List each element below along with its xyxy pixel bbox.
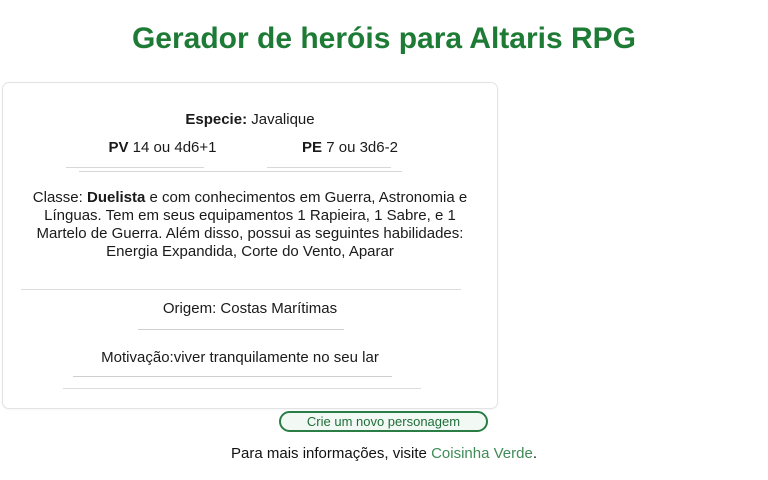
class-name: Duelista xyxy=(87,189,145,206)
character-card-body: Especie: Javalique PV 14 ou 4d6+1 PE 7 o… xyxy=(3,83,497,408)
species-label: Especie: xyxy=(185,111,247,128)
motivation-row: Motivação:viver tranquilamente no seu la… xyxy=(3,349,497,367)
create-new-character-button[interactable]: Crie um novo personagem xyxy=(279,411,488,432)
origin-row: Origem: Costas Marítimas xyxy=(3,300,497,318)
species-value: Javalique xyxy=(251,111,314,128)
origin-divider xyxy=(138,329,344,330)
stat-pv-label: PV xyxy=(108,139,128,156)
class-section-divider xyxy=(21,289,461,290)
footer: Para mais informações, visite Coisinha V… xyxy=(0,445,768,462)
stat-pe-divider xyxy=(267,167,391,168)
stat-pe-text: PE 7 ou 3d6-2 xyxy=(263,139,438,157)
stat-pv-text: PV 14 ou 4d6+1 xyxy=(63,139,263,157)
stat-pv-value: 14 ou 4d6+1 xyxy=(133,139,217,156)
footer-prefix: Para mais informações, visite xyxy=(231,445,431,462)
stat-pv: PV 14 ou 4d6+1 xyxy=(63,139,263,168)
character-card: Especie: Javalique PV 14 ou 4d6+1 PE 7 o… xyxy=(2,82,498,409)
species-row: Especie: Javalique xyxy=(3,111,497,129)
coisinha-verde-link[interactable]: Coisinha Verde xyxy=(431,445,533,462)
stat-pe-label: PE xyxy=(302,139,322,156)
footer-suffix: . xyxy=(533,445,537,462)
stat-pe: PE 7 ou 3d6-2 xyxy=(263,139,438,168)
stat-pv-divider xyxy=(66,167,204,168)
motivation-divider-1 xyxy=(73,376,392,377)
motivation-divider-2 xyxy=(63,388,421,389)
stats-row: PV 14 ou 4d6+1 PE 7 ou 3d6-2 xyxy=(3,139,497,168)
class-prefix: Classe: xyxy=(33,189,83,206)
page-title: Gerador de heróis para Altaris RPG xyxy=(0,0,768,57)
class-block: Classe: Duelista e com conhecimentos em … xyxy=(3,189,497,261)
stat-pe-value: 7 ou 3d6-2 xyxy=(326,139,398,156)
stats-section-divider xyxy=(79,171,402,172)
